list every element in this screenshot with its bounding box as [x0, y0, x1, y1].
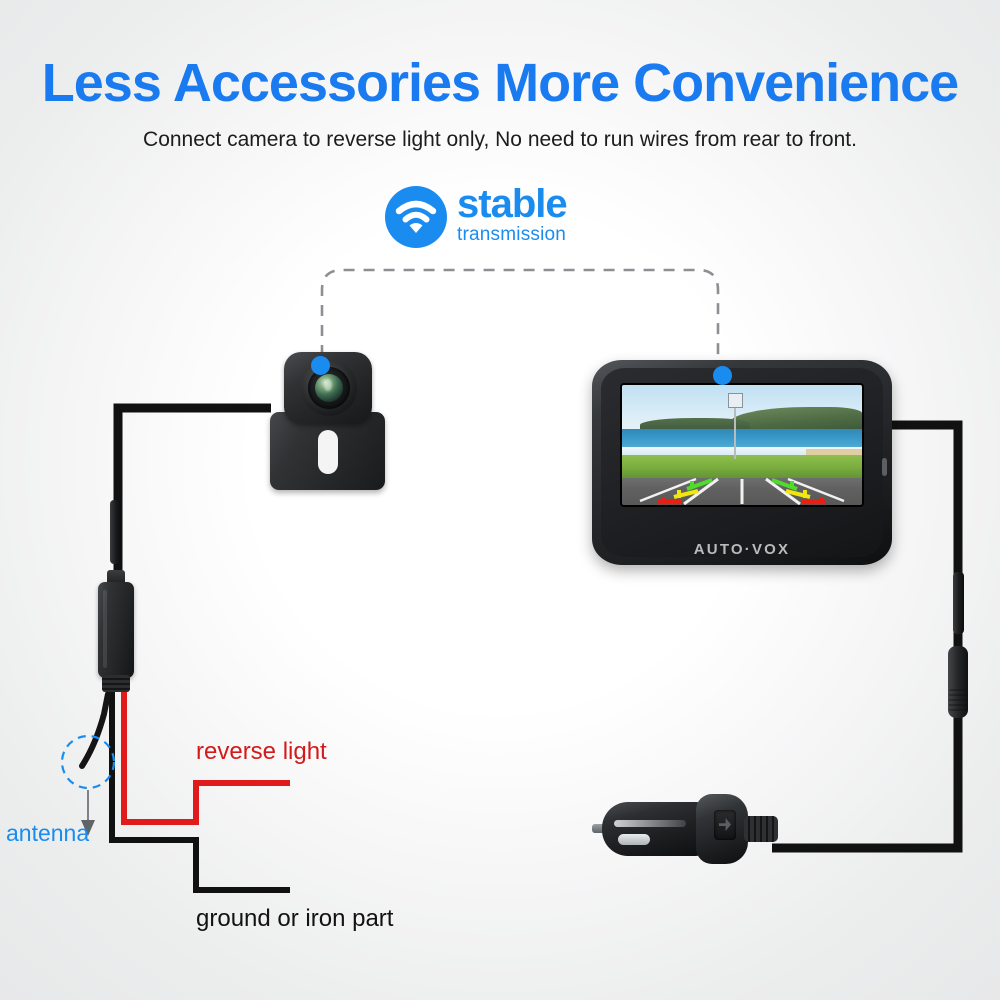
monitor-signal-dot: [713, 366, 732, 385]
control-box-strain-relief: [102, 675, 130, 692]
connector-ribs: [949, 686, 967, 714]
camera-bracket-slot: [318, 430, 338, 474]
power-cable-barrel-connector: [948, 646, 968, 718]
label-reverse-light: reverse light: [196, 738, 327, 766]
monitor-side-button[interactable]: [882, 458, 887, 476]
monitor-bezel: AUTO·VOX: [592, 360, 892, 565]
rear-camera-module[interactable]: [262, 352, 392, 492]
parking-guidelines-overlay: [622, 385, 862, 505]
monitor-screen: [622, 385, 862, 505]
camera-lens-glass: [315, 374, 343, 402]
camera-cable-ferrule: [110, 500, 121, 564]
power-cable-ferrule: [953, 572, 964, 634]
control-box-body: [98, 582, 134, 678]
charger-strain-relief: [744, 816, 778, 842]
label-antenna: antenna: [6, 820, 89, 847]
monitor-brand-logo: AUTO·VOX: [592, 541, 892, 558]
rear-view-monitor[interactable]: AUTO·VOX: [592, 360, 892, 565]
label-ground-or-iron-part: ground or iron part: [196, 905, 393, 933]
camera-lens-highlight: [324, 379, 332, 391]
charger-highlight: [614, 820, 686, 827]
car-charger-plug[interactable]: [596, 790, 776, 870]
inline-control-box: [98, 582, 134, 682]
infographic-canvas: Less Accessories More Convenience Connec…: [0, 0, 1000, 1000]
charger-barrel: [602, 802, 710, 856]
charger-side-contact: [618, 834, 650, 845]
camera-signal-dot: [311, 356, 330, 375]
control-box-highlight: [103, 590, 107, 668]
